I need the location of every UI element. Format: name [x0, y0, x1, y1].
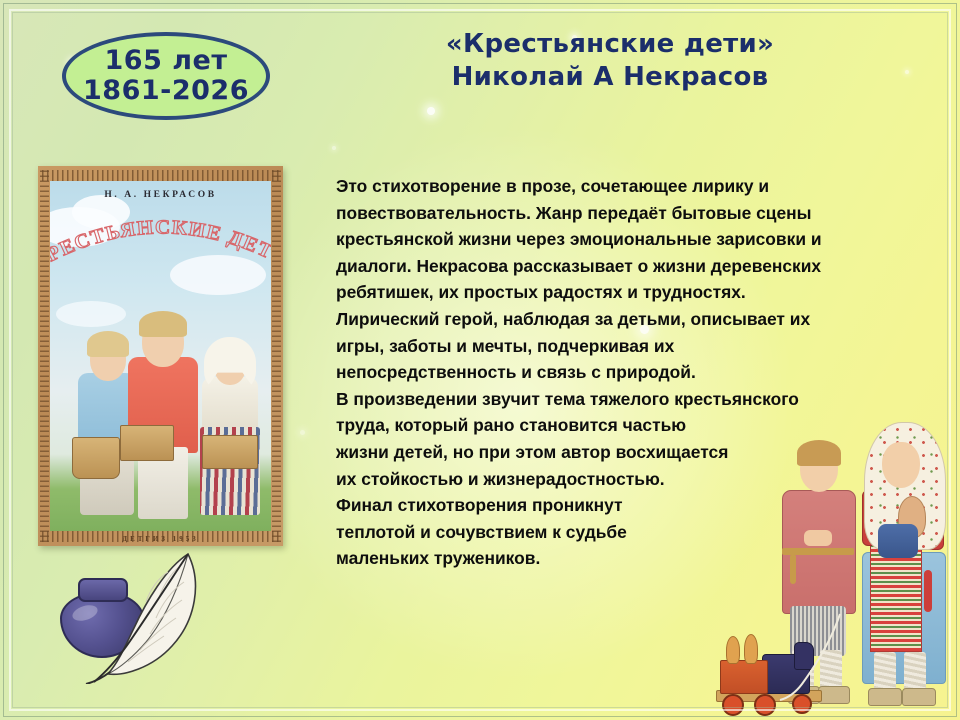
book-frame-right-edge	[272, 170, 281, 542]
badge-years-label: 165 лет	[105, 46, 228, 76]
toy-wheel	[722, 694, 744, 716]
book-imprint-label: ДЕТГИЗ 1953	[38, 535, 283, 543]
cloud-decoration	[56, 301, 126, 327]
book-cover-wooden-frame: ДЕТГИЗ 1953 Н. А. НЕКРАСОВ КРЕСТЬЯНСКИЕ …	[38, 166, 283, 546]
book-cover-image: ДЕТГИЗ 1953 Н. А. НЕКРАСОВ КРЕСТЬЯНСКИЕ …	[38, 166, 283, 546]
toy-pull-string	[778, 612, 868, 702]
anniversary-badge: 165 лет 1861-2026	[62, 32, 270, 120]
book-cover-artwork: Н. А. НЕКРАСОВ КРЕСТЬЯНСКИЕ ДЕТИ	[50, 181, 271, 531]
folk-girl-sash-tassel	[924, 570, 932, 612]
sparkle-decoration	[427, 107, 435, 115]
title-work-name: «Крестьянские дети»	[330, 28, 890, 61]
body-line: ребятишек, их простых радостях и труднос…	[336, 279, 916, 306]
body-line: повествовательность. Жанр передаёт бытов…	[336, 200, 916, 227]
folk-girl-leg-wrap	[904, 652, 926, 692]
cover-child-center-hair	[139, 311, 187, 337]
toy-wheel	[754, 694, 776, 716]
presentation-slide: 165 лет 1861-2026 «Крестьянские дети» Ни…	[0, 0, 960, 720]
sparkle-decoration	[905, 70, 909, 74]
toy-figure	[726, 636, 740, 664]
cover-basket	[202, 435, 258, 469]
folk-girl-bast-shoe	[868, 688, 902, 706]
folk-girl-bast-shoe	[902, 688, 936, 706]
inkwell-quill-decoration	[46, 556, 216, 686]
toy-figure	[744, 634, 758, 664]
svg-text:КРЕСТЬЯНСКИЕ ДЕТИ: КРЕСТЬЯНСКИЕ ДЕТИ	[50, 209, 271, 266]
body-line: Лирический герой, наблюдая за детьми, оп…	[336, 306, 916, 333]
book-author-label: Н. А. НЕКРАСОВ	[50, 190, 271, 200]
folk-girl-head	[882, 442, 920, 488]
body-line: Это стихотворение в прозе, сочетающее ли…	[336, 173, 916, 200]
folk-girl-apron	[870, 544, 922, 652]
cover-basket	[120, 425, 174, 461]
folk-children-illustration	[758, 402, 954, 718]
folk-girl-bundle	[878, 524, 918, 558]
sparkle-decoration	[332, 146, 336, 150]
body-line: игры, заботы и мечты, подчеркивая их	[336, 333, 916, 360]
cover-child-left-hair	[87, 331, 129, 357]
toy-cart-body	[720, 660, 768, 694]
page-title: «Крестьянские дети» Николай А Некрасов	[330, 28, 890, 93]
book-title-arc: КРЕСТЬЯНСКИЕ ДЕТИ	[50, 209, 271, 267]
body-line: крестьянской жизни через эмоциональные з…	[336, 226, 916, 253]
cover-child-center	[126, 309, 202, 519]
folk-boy-hair	[797, 440, 841, 466]
body-line: диалоги. Некрасова рассказывает о жизни …	[336, 253, 916, 280]
quill-feather-icon	[84, 548, 212, 684]
cover-basket	[72, 437, 120, 479]
cover-child-right	[196, 331, 264, 515]
folk-boy-hands	[804, 530, 832, 546]
folk-boy-belt-tassel	[790, 554, 796, 584]
body-line: непосредственность и связь с природой.	[336, 359, 916, 386]
book-frame-left-edge	[40, 170, 49, 542]
folk-girl-leg-wrap	[874, 652, 896, 692]
sparkle-decoration	[300, 430, 305, 435]
badge-dates-label: 1861-2026	[83, 76, 249, 106]
title-author-name: Николай А Некрасов	[330, 61, 890, 94]
